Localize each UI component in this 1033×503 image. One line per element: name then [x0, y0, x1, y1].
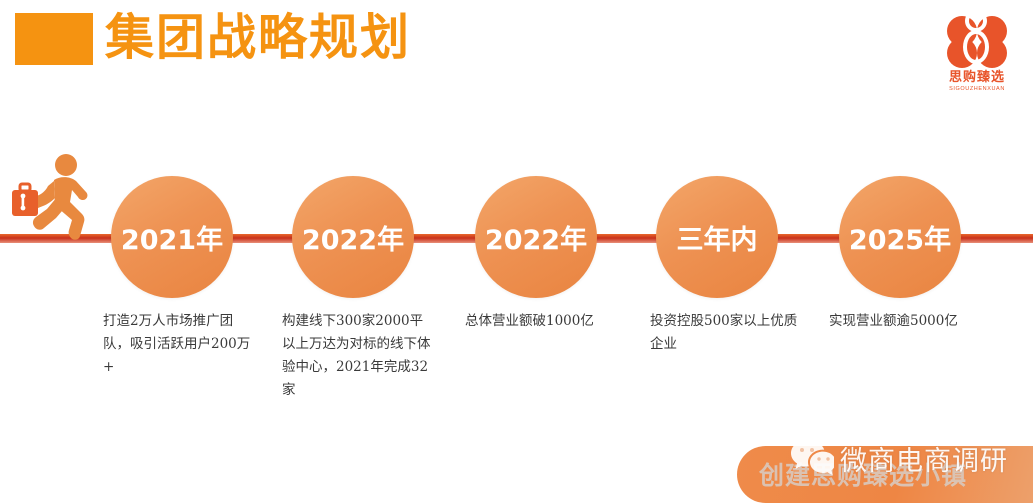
timeline-node-circle[interactable]: 三年内: [656, 176, 778, 298]
strategy-timeline: 2021年 打造2万人市场推广团队，吸引活跃用户200万+ 2022年 构建线下…: [0, 140, 1033, 440]
orange-block-icon: [15, 13, 93, 65]
timeline-node-label: 2022年: [292, 176, 414, 298]
slide-canvas: 集团战略规划 思购臻选 SIGOUZHENXUAN: [0, 0, 1033, 503]
timeline-node-caption: 构建线下300家2000平以上万达为对标的线下体验中心，2021年完成32家: [282, 310, 434, 402]
running-businessman-icon: [8, 148, 104, 240]
timeline-node-circle[interactable]: 2022年: [292, 176, 414, 298]
timeline-node-circle[interactable]: 2022年: [475, 176, 597, 298]
timeline-node-label: 2025年: [839, 176, 961, 298]
slide-header: 集团战略规划 思购臻选 SIGOUZHENXUAN: [0, 0, 1033, 110]
timeline-node-caption: 总体营业额破1000亿: [465, 310, 625, 333]
timeline-node-circle[interactable]: 2021年: [111, 176, 233, 298]
timeline-node-circle[interactable]: 2025年: [839, 176, 961, 298]
timeline-node-label: 2022年: [475, 176, 597, 298]
timeline-node-caption: 实现营业额逾5000亿: [829, 310, 999, 333]
timeline-node-caption: 投资控股500家以上优质企业: [650, 310, 800, 356]
logo-name: 思购臻选: [935, 70, 1019, 85]
timeline-node-label: 2021年: [111, 176, 233, 298]
logo-pinyin: SIGOUZHENXUAN: [935, 85, 1019, 94]
sigou-infinity-mark-icon: [943, 8, 1011, 70]
footer-banner-label: 创建思购臻选小镇: [759, 452, 967, 499]
timeline-node-label: 三年内: [656, 176, 778, 298]
brand-logo: 思购臻选 SIGOUZHENXUAN: [935, 8, 1019, 100]
footer-banner: 创建思购臻选小镇: [737, 446, 1033, 503]
timeline-node-caption: 打造2万人市场推广团队，吸引活跃用户200万+: [103, 310, 253, 379]
page-title: 集团战略规划: [105, 6, 411, 70]
